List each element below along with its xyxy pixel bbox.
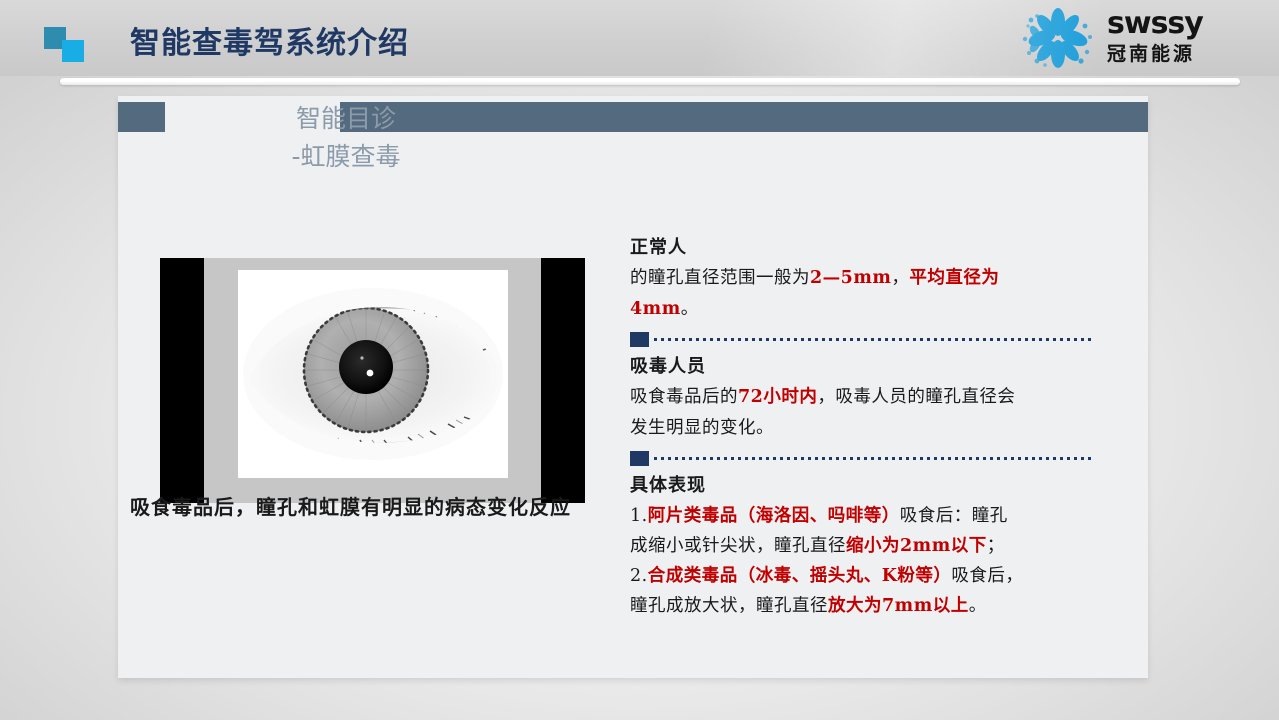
list-item: 成缩小或针尖状，瞳孔直径缩小为2mm以下； [630,531,1095,561]
logo-brand-name: swssy [1107,8,1203,40]
header-title: 智能查毒驾系统介绍 [130,18,409,62]
block-heading: 正常人 [630,236,1095,260]
highlighted-text: 4mm [630,299,681,319]
slide-title-line1: 智能目诊 [296,104,396,133]
eye-image-caption: 吸食毒品后，瞳孔和虹膜有明显的病态变化反应 [130,491,630,520]
body-text: 。 [681,299,699,319]
body-text: 吸食后：瞳孔 [900,506,1008,526]
logo-brand-sub: 冠南能源 [1107,42,1203,66]
highlighted-text: 缩小为2mm以下 [846,536,987,556]
decor-square-dark-icon [44,27,66,49]
block-body: 吸食毒品后的72小时内，吸毒人员的瞳孔直径会发生明显的变化。 [630,382,1095,444]
highlighted-text: 2—5mm [810,268,891,288]
slide-title-bar-left-cap [118,102,165,132]
logo-text: swssy 冠南能源 [1107,8,1203,66]
block-body: 1.阿片类毒品（海洛因、吗啡等）吸食后：瞳孔成缩小或针尖状，瞳孔直径缩小为2mm… [630,501,1095,621]
body-text: 发生明显的变化。 [630,418,774,438]
divider-dotted-line [654,457,1093,460]
eye-photo [238,270,508,478]
highlighted-text: 放大为7mm以上 [828,596,969,616]
highlighted-text: 72小时内 [738,387,817,407]
slide-header: 智能查毒驾系统介绍 [0,0,1279,76]
list-item: 瞳孔成放大状，瞳孔直径放大为7mm以上。 [630,591,1095,621]
divider-dotted-line [654,338,1093,341]
decor-square-light-icon [62,40,84,62]
block-heading: 吸毒人员 [630,355,1095,379]
highlighted-text: 阿片类毒品（海洛因、吗啡等） [648,506,900,526]
text-block-symptoms: 具体表现 1.阿片类毒品（海洛因、吗啡等）吸食后：瞳孔成缩小或针尖状，瞳孔直径缩… [630,474,1095,621]
body-text: 的瞳孔直径范围一般为 [630,268,810,288]
body-text: 吸食后， [951,566,1023,586]
header-divider [60,78,1240,85]
list-item: 1.阿片类毒品（海洛因、吗啡等）吸食后：瞳孔 [630,501,1095,531]
slide-title: 智能目诊 -虹膜查毒 [196,100,496,176]
content-text-column: 正常人 的瞳孔直径范围一般为2—5mm，平均直径为4mm。 吸毒人员 吸食毒品后… [630,236,1095,621]
company-logo: swssy 冠南能源 [1015,6,1265,70]
body-text: 吸食毒品后的 [630,387,738,407]
body-text: 1. [630,506,648,526]
body-text: 。 [969,596,987,616]
block-divider [630,329,1095,351]
body-text: 2. [630,566,648,586]
body-text: ，吸毒人员的瞳孔直径会 [817,387,1015,407]
block-body: 的瞳孔直径范围一般为2—5mm，平均直径为4mm。 [630,263,1095,325]
slide-content-panel: 智能目诊 -虹膜查毒 [118,96,1148,678]
slide-title-line2: -虹膜查毒 [196,138,496,176]
divider-square-icon [630,332,649,347]
block-divider [630,448,1095,470]
text-block-normal-person: 正常人 的瞳孔直径范围一般为2—5mm，平均直径为4mm。 [630,236,1095,325]
body-text: ； [987,536,1005,556]
body-text: 成缩小或针尖状，瞳孔直径 [630,536,846,556]
text-block-drug-user: 吸毒人员 吸食毒品后的72小时内，吸毒人员的瞳孔直径会发生明显的变化。 [630,355,1095,444]
list-item: 2.合成类毒品（冰毒、摇头丸、K粉等）吸食后， [630,561,1095,591]
block-heading: 具体表现 [630,474,1095,498]
body-text: ， [891,268,909,288]
eye-image-block [160,258,585,503]
highlighted-text: 平均直径为 [909,268,999,288]
highlighted-text: 合成类毒品（冰毒、摇头丸、K粉等） [648,566,952,586]
body-text: 瞳孔成放大状，瞳孔直径 [630,596,828,616]
logo-petal-flower-icon [1015,6,1101,70]
presentation-slide: 智能查毒驾系统介绍 [0,0,1279,720]
divider-square-icon [630,451,649,466]
